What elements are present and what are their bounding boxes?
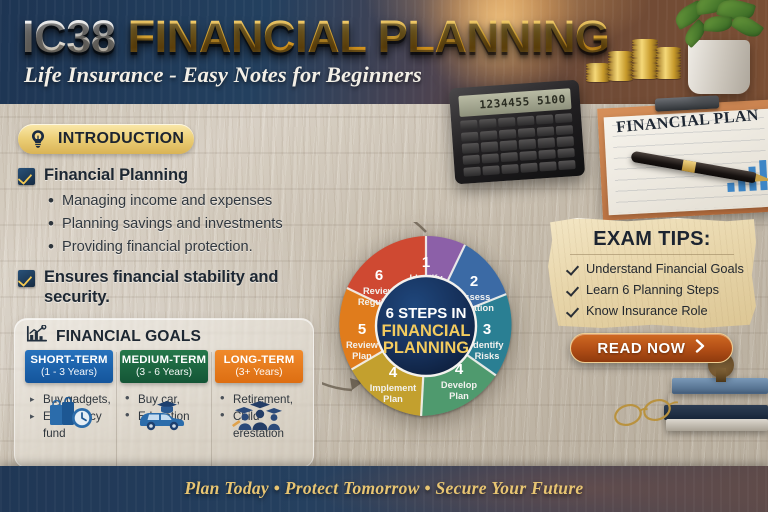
checkmark-icon xyxy=(18,270,35,287)
intro-item-1-title: Financial Planning xyxy=(44,166,188,186)
wheel-label: Develop xyxy=(441,380,477,390)
footer-banner: Plan Today • Protect Tomorrow • Secure Y… xyxy=(0,466,768,512)
goal-heading: SHORT-TERM xyxy=(25,354,113,366)
wheel-number: 5 xyxy=(358,321,366,338)
rubber-stamp-handle xyxy=(716,368,726,382)
lightbulb-icon xyxy=(27,128,49,150)
car-graduation-cap-icon xyxy=(135,397,193,436)
page-title: IC38 FINANCIAL PLANNING xyxy=(22,14,610,59)
shopping-bags-clock-icon xyxy=(42,397,96,436)
introduction-banner: INTRODUCTION xyxy=(18,124,194,154)
introduction-label: INTRODUCTION xyxy=(58,130,184,148)
goal-header-long-term: LONG-TERM (3+ Years) xyxy=(215,350,303,383)
wheel-number: 3 xyxy=(483,321,491,338)
read-now-label: READ NOW xyxy=(597,340,685,357)
divider xyxy=(570,254,734,255)
exam-tips-title: EXAM TIPS: xyxy=(548,228,756,251)
intro-check-item-1: Financial Planning xyxy=(18,166,188,186)
page-subtitle: Life Insurance - Easy Notes for Beginner… xyxy=(24,62,422,88)
book xyxy=(664,405,768,420)
goal-column-medium-term: MEDIUM-TERM (3 - 6 Years) Buy car, Educa… xyxy=(120,350,208,442)
financial-goals-card: FINANCIAL GOALS SHORT-TERM (1 - 3 Years)… xyxy=(14,318,314,468)
six-steps-wheel: 1 Identify Goals 2 Assess Situation 3 Id… xyxy=(322,222,530,430)
wheel-label: Implement xyxy=(370,383,417,393)
goal-column-short-term: SHORT-TERM (1 - 3 Years) Buy gadgets, Em… xyxy=(25,350,113,442)
goal-header-short-term: SHORT-TERM (1 - 3 Years) xyxy=(25,350,113,383)
bar-chart-trend-icon xyxy=(26,325,48,349)
footer-tagline: Plan Today • Protect Tomorrow • Secure Y… xyxy=(0,478,768,499)
read-now-button[interactable]: READ NOW xyxy=(570,333,733,363)
wheel-number: 2 xyxy=(470,273,478,290)
list-item: Managing income and expenses xyxy=(47,190,283,213)
goal-heading: MEDIUM-TERM xyxy=(120,354,208,366)
book xyxy=(666,419,768,431)
wheel-center-line2: FINANCIAL xyxy=(382,322,471,340)
calculator-display: 1234455 5100 xyxy=(458,88,571,117)
goal-column-long-term: LONG-TERM (3+ Years) Retirement, Child e… xyxy=(215,350,303,442)
financial-goals-title: FINANCIAL GOALS xyxy=(56,328,201,346)
list-item: Planning savings and investments xyxy=(47,213,283,236)
goal-header-medium-term: MEDIUM-TERM (3 - 6 Years) xyxy=(120,350,208,383)
wheel-number: 1 xyxy=(422,254,430,271)
eyeglasses xyxy=(612,398,678,433)
list-item: Understand Financial Goals xyxy=(566,258,744,279)
intro-bullet-list: Managing income and expenses Planning sa… xyxy=(47,190,283,259)
wheel-center-line1: 6 STEPS IN xyxy=(386,305,467,322)
wheel-label: Plan xyxy=(352,351,372,361)
wheel-label: Risks xyxy=(475,351,500,361)
title-main: FINANCIAL PLANNING xyxy=(128,11,610,62)
list-item: Know Insurance Role xyxy=(566,300,744,321)
calculator: 1234455 5100 xyxy=(449,80,585,185)
intro-check-item-2: Ensures financial stability and security… xyxy=(18,268,298,308)
financial-goals-columns: SHORT-TERM (1 - 3 Years) Buy gadgets, Em… xyxy=(25,350,303,442)
clipboard-clip xyxy=(655,95,720,111)
goal-heading: LONG-TERM xyxy=(215,354,303,366)
infographic-poster: IC38 FINANCIAL PLANNING Life Insurance -… xyxy=(0,0,768,512)
wheel-label: Plan xyxy=(383,394,403,404)
chevron-right-icon xyxy=(695,339,706,357)
list-item: Providing financial protection. xyxy=(47,236,283,259)
wheel-number: 6 xyxy=(375,267,383,284)
goal-range: (3 - 6 Years) xyxy=(120,367,208,378)
title-code: IC38 xyxy=(22,11,115,62)
wheel-label: Plan xyxy=(449,391,469,401)
checkmark-icon xyxy=(18,168,35,185)
plant-pot xyxy=(688,40,750,94)
wheel-center-line3: PLANNING xyxy=(383,339,469,357)
intro-item-2-title: Ensures financial stability and security… xyxy=(44,268,298,308)
list-item: Learn 6 Planning Steps xyxy=(566,279,744,300)
financial-goals-header: FINANCIAL GOALS xyxy=(26,325,201,349)
clipboard: FINANCIAL PLAN xyxy=(597,99,768,220)
family-graduation-icon xyxy=(230,399,288,436)
calculator-keypad xyxy=(460,113,576,177)
wheel-label: Review xyxy=(346,340,379,350)
wheel-label: Identify xyxy=(470,340,504,350)
goal-range: (1 - 3 Years) xyxy=(25,367,113,378)
goal-range: (3+ Years) xyxy=(215,367,303,378)
exam-tips-list: Understand Financial Goals Learn 6 Plann… xyxy=(566,258,744,321)
